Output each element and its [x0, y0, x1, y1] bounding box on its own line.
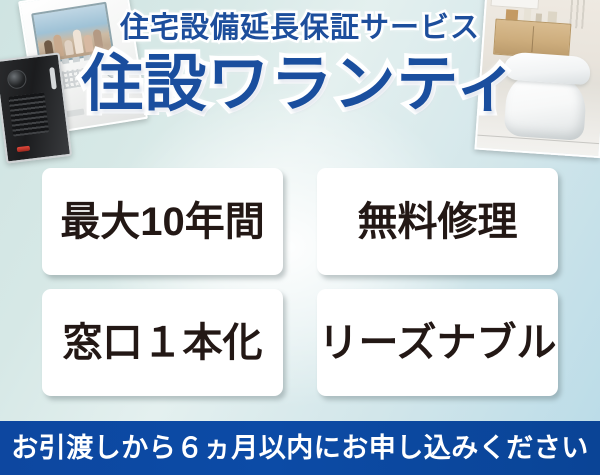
- feature-card-max-years[interactable]: 最大10年間: [42, 168, 283, 275]
- promo-banner: 住宅設備延長保証サービス 住設ワランティ 最大10年間 無料修理 窓口１本化 リ…: [0, 0, 600, 475]
- feature-label: 最大10年間: [60, 200, 265, 244]
- feature-card-free-repair[interactable]: 無料修理: [317, 168, 558, 275]
- cta-text: お引渡しから６ヵ月以内にお申し込みください: [11, 432, 589, 464]
- page-title: 住設ワランティ: [0, 48, 600, 122]
- door-station-call-button: [17, 146, 31, 153]
- feature-card-grid: 最大10年間 無料修理 窓口１本化 リーズナブル: [42, 168, 558, 396]
- cta-bar[interactable]: お引渡しから６ヵ月以内にお申し込みください: [0, 421, 600, 475]
- feature-card-single-contact[interactable]: 窓口１本化: [42, 289, 283, 396]
- feature-label: 窓口１本化: [63, 321, 263, 365]
- feature-card-reasonable[interactable]: リーズナブル: [317, 289, 558, 396]
- feature-label: 無料修理: [358, 200, 518, 244]
- service-subtitle: 住宅設備延長保証サービス: [0, 8, 600, 48]
- feature-label: リーズナブル: [319, 321, 557, 365]
- headline-block: 住宅設備延長保証サービス 住設ワランティ: [0, 8, 600, 122]
